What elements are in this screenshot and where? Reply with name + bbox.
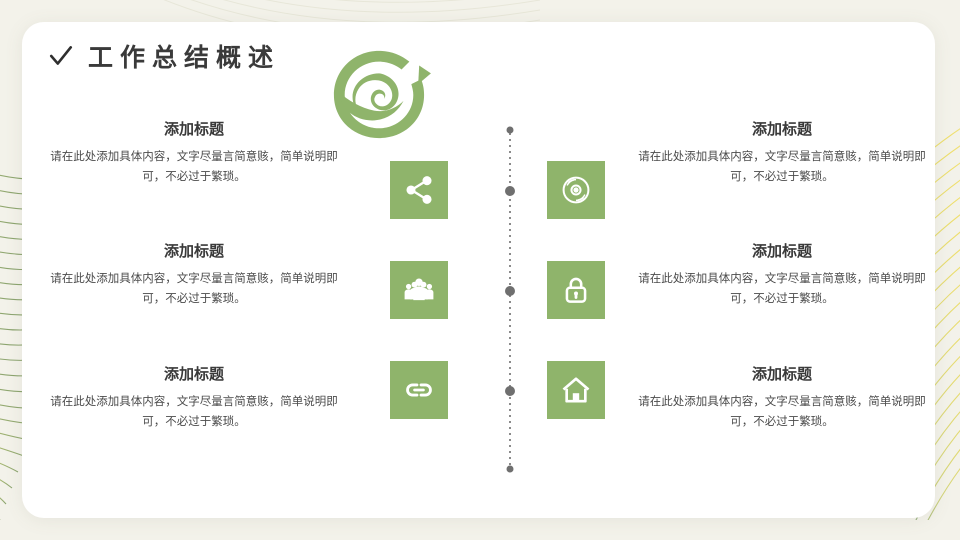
text-block-left-2: 添加标题 请在此处添加具体内容，文字尽量言简意赅，简单说明即可，不必过于繁琐。 xyxy=(44,240,344,308)
link-chain-icon xyxy=(403,374,435,406)
text-block-left-3: 添加标题 请在此处添加具体内容，文字尽量言简意赅，简单说明即可，不必过于繁琐。 xyxy=(44,363,344,431)
icon-tile-disc-cd[interactable] xyxy=(547,161,605,219)
block-title: 添加标题 xyxy=(632,240,932,261)
icon-tile-lock[interactable] xyxy=(547,261,605,319)
rail-dot xyxy=(507,465,514,472)
rail-dot xyxy=(505,186,515,196)
block-body: 请在此处添加具体内容，文字尽量言简意赅，简单说明即可，不必过于繁琐。 xyxy=(632,146,932,186)
text-block-right-1: 添加标题 请在此处添加具体内容，文字尽量言简意赅，简单说明即可，不必过于繁琐。 xyxy=(632,118,932,186)
block-body: 请在此处添加具体内容，文字尽量言简意赅，简单说明即可，不必过于繁琐。 xyxy=(44,391,344,431)
text-block-left-1: 添加标题 请在此处添加具体内容，文字尽量言简意赅，简单说明即可，不必过于繁琐。 xyxy=(44,118,344,186)
home-icon xyxy=(560,374,592,406)
slide-card: 工作总结概述 xyxy=(22,22,935,518)
block-body: 请在此处添加具体内容，文字尽量言简意赅，简单说明即可，不必过于繁琐。 xyxy=(44,146,344,186)
rail-dot xyxy=(505,386,515,396)
icon-tile-people-group[interactable] xyxy=(390,261,448,319)
lock-icon xyxy=(560,274,592,306)
center-dotted-rail xyxy=(498,127,522,472)
block-body: 请在此处添加具体内容，文字尽量言简意赅，简单说明即可，不必过于繁琐。 xyxy=(44,268,344,308)
icon-tile-home[interactable] xyxy=(547,361,605,419)
share-icon xyxy=(403,174,435,206)
text-block-right-2: 添加标题 请在此处添加具体内容，文字尽量言简意赅，简单说明即可，不必过于繁琐。 xyxy=(632,240,932,308)
people-group-icon xyxy=(403,274,435,306)
page-title: 工作总结概述 xyxy=(88,38,280,74)
disc-cd-icon xyxy=(560,174,592,206)
icon-tile-share[interactable] xyxy=(390,161,448,219)
slide-header: 工作总结概述 xyxy=(48,38,280,74)
block-title: 添加标题 xyxy=(44,240,344,261)
rail-dot xyxy=(507,127,514,134)
block-body: 请在此处添加具体内容，文字尽量言简意赅，简单说明即可，不必过于繁琐。 xyxy=(632,391,932,431)
check-icon xyxy=(48,43,74,69)
rail-dot xyxy=(505,286,515,296)
block-title: 添加标题 xyxy=(632,363,932,384)
icon-tile-link-chain[interactable] xyxy=(390,361,448,419)
dotted-line xyxy=(509,127,511,472)
block-title: 添加标题 xyxy=(632,118,932,139)
block-title: 添加标题 xyxy=(44,363,344,384)
text-block-right-3: 添加标题 请在此处添加具体内容，文字尽量言简意赅，简单说明即可，不必过于繁琐。 xyxy=(632,363,932,431)
block-body: 请在此处添加具体内容，文字尽量言简意赅，简单说明即可，不必过于繁琐。 xyxy=(632,268,932,308)
block-title: 添加标题 xyxy=(44,118,344,139)
